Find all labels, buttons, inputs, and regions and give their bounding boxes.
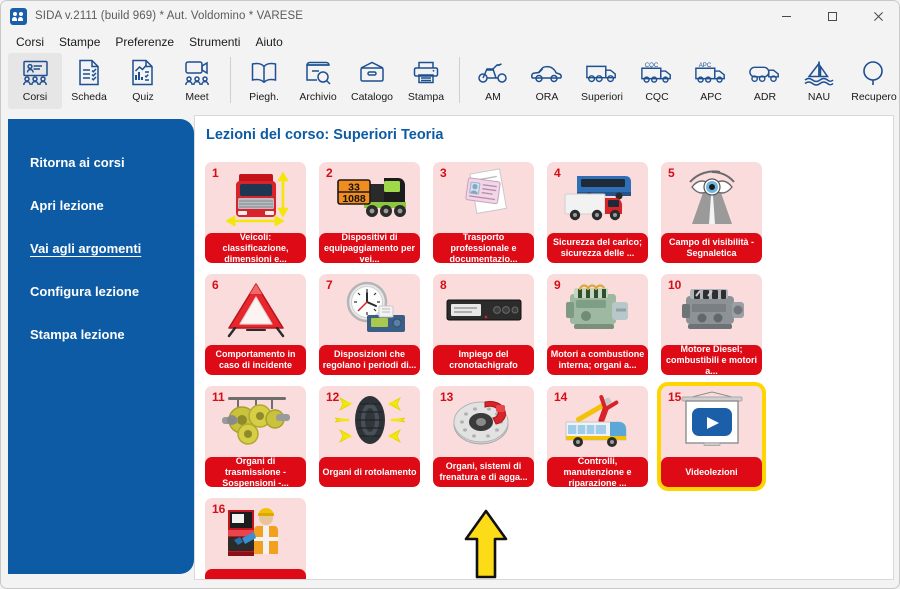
tile-caption: Motori a combustione interna; organi a..…: [547, 345, 648, 375]
toolbar-button-catalogo[interactable]: Catalogo: [345, 53, 399, 109]
menu-item-aiuto[interactable]: Aiuto: [248, 33, 289, 51]
sidebar-item-apri-lezione[interactable]: Apri lezione: [8, 184, 194, 227]
toolbar-button-scheda[interactable]: Scheda: [62, 53, 116, 109]
sidebar-item-label: Vai agli argomenti: [30, 241, 141, 256]
toolbar-label-cqc: CQC: [645, 91, 668, 103]
toolbar: Corsi Scheda: [1, 53, 900, 115]
scooter-icon: [476, 57, 510, 88]
lesson-tile-8[interactable]: 8 Impiego del cronotachigrafo: [433, 274, 534, 375]
toolbar-label-archivio: Archivio: [299, 91, 336, 103]
tile-number: 14: [554, 390, 567, 404]
toolbar-button-cqc[interactable]: CQC CQC: [630, 53, 684, 109]
toolbar-label-scheda: Scheda: [71, 91, 107, 103]
toolbar-label-superiori: Superiori: [581, 91, 623, 103]
menu-bar: Corsi Stampe Preferenze Strumenti Aiuto: [1, 31, 900, 53]
lesson-tile-3[interactable]: 3 Trasporto professionale e documentazio…: [433, 162, 534, 263]
toolbar-label-piegh: Piegh.: [249, 91, 279, 103]
toolbar-group-main: Corsi Scheda: [8, 53, 224, 111]
tile-caption-text: Disposizioni che regolano i periodi di..…: [322, 349, 417, 371]
tile-caption: Campo di visibilità - Segnaletica: [661, 233, 762, 263]
toolbar-button-nau[interactable]: NAU: [792, 53, 846, 109]
sailboat-icon: [802, 57, 836, 88]
tile-number: 16: [212, 502, 225, 516]
circle-points-icon: [857, 57, 891, 88]
sidebar-item-label: Apri lezione: [30, 198, 104, 213]
tile-body: 16 Parte pratica: [205, 498, 306, 580]
tile-number: 4: [554, 166, 561, 180]
toolbar-label-adr: ADR: [754, 91, 776, 103]
tile-caption-text: Sicurezza del carico; sicurezza delle ..…: [550, 237, 645, 259]
engine-green-icon: [547, 278, 648, 340]
truck-apc-icon: APC: [694, 57, 728, 88]
tile-number: 3: [440, 166, 447, 180]
lesson-tile-15[interactable]: 15 Videolezioni: [657, 382, 766, 491]
menu-item-preferenze[interactable]: Preferenze: [108, 33, 181, 51]
menu-item-strumenti[interactable]: Strumenti: [182, 33, 247, 51]
tile-number: 5: [668, 166, 675, 180]
lesson-tile-2[interactable]: 33 1088 2 Dispositivi di equipaggiamento…: [319, 162, 420, 263]
sidebar-item-vai-agli-argomenti[interactable]: Vai agli argomenti: [8, 227, 194, 270]
tile-body: 12 Organi di rotolamento: [319, 386, 420, 487]
page-title: Lezioni del corso: Superiori Teoria: [206, 127, 443, 143]
tile-caption-text: Videolezioni: [685, 467, 737, 478]
tile-caption-text: Organi di rotolamento: [322, 467, 416, 478]
tile-number: 10: [668, 278, 681, 292]
tile-body: 6 Comportamento in caso di incidente: [205, 274, 306, 375]
lesson-tile-1[interactable]: 1 Veicoli: classificazione, dimensioni e…: [205, 162, 306, 263]
toolbar-button-am[interactable]: AM: [466, 53, 520, 109]
eye-road-icon: [661, 166, 762, 228]
lesson-tile-6[interactable]: 6 Comportamento in caso di incidente: [205, 274, 306, 375]
toolbar-button-corsi[interactable]: Corsi: [8, 53, 62, 109]
tile-number: 1: [212, 166, 219, 180]
tile-body: 33 1088 2 Dispositivi di equipaggiamento…: [319, 162, 420, 263]
lesson-tile-12[interactable]: 12 Organi di rotolamento: [319, 386, 420, 487]
lesson-tile-11[interactable]: 11 Organi di trasmissione - Sospensioni …: [205, 386, 306, 487]
tile-caption-text: Trasporto professionale e documentazio..…: [436, 232, 531, 264]
toolbar-button-apc[interactable]: APC APC: [684, 53, 738, 109]
toolbar-label-meet: Meet: [185, 91, 208, 103]
bus-and-truck-icon: [547, 166, 648, 228]
tile-body: 11 Organi di trasmissione - Sospensioni …: [205, 386, 306, 487]
minimize-icon[interactable]: [763, 1, 809, 31]
printer-icon: [409, 57, 443, 88]
tile-number: 12: [326, 390, 339, 404]
tile-body: 8 Impiego del cronotachigrafo: [433, 274, 534, 375]
tile-caption: Disposizioni che regolano i periodi di..…: [319, 345, 420, 375]
svg-text:1088: 1088: [342, 193, 366, 205]
tile-caption: Controlli, manutenzione e riparazione ..…: [547, 457, 648, 487]
toolbar-label-ora: ORA: [536, 91, 559, 103]
adr-plate-truck-icon: 33 1088: [319, 166, 420, 228]
toolbar-button-archivio[interactable]: Archivio: [291, 53, 345, 109]
lesson-tile-7[interactable]: 7 Disposizioni che regolano i periodi di…: [319, 274, 420, 375]
tile-caption-text: Dispositivi di equipaggiamento per vei..…: [322, 232, 417, 264]
tile-body: 1 Veicoli: classificazione, dimensioni e…: [205, 162, 306, 263]
tile-caption: Dispositivi di equipaggiamento per vei..…: [319, 233, 420, 263]
warning-triangle-icon: [205, 278, 306, 340]
sidebar: Ritorna ai corsi Apri lezione Vai agli a…: [8, 119, 194, 574]
lesson-tile-5[interactable]: 5 Campo di visibilità - Segnaletica: [661, 162, 762, 263]
lesson-grid: 1 Veicoli: classificazione, dimensioni e…: [205, 162, 885, 580]
toolbar-button-stampa[interactable]: Stampa: [399, 53, 453, 109]
close-icon[interactable]: [855, 1, 900, 31]
tile-caption-text: Motore Diesel; combustibili e motori a..…: [664, 344, 759, 376]
toolbar-button-quiz[interactable]: Quiz: [116, 53, 170, 109]
tile-body: 4 Sicurezza del carico; sicurezza delle …: [547, 162, 648, 263]
sidebar-item-stampa-lezione[interactable]: Stampa lezione: [8, 313, 194, 356]
tile-caption-text: Comportamento in caso di incidente: [208, 349, 303, 371]
video-people-icon: [180, 57, 214, 88]
tile-caption: Comportamento in caso di incidente: [205, 345, 306, 375]
toolbar-label-apc: APC: [700, 91, 722, 103]
open-book-icon: [247, 57, 281, 88]
tile-caption: Videolezioni: [661, 457, 762, 487]
window-title: SIDA v.2111 (build 969) * Aut. Voldomino…: [35, 10, 303, 22]
presentation-people-icon: [18, 57, 52, 88]
tile-caption: Organi, sistemi di frenatura e di agga..…: [433, 457, 534, 487]
tile-body: 14 Controlli, manutenzione e riparazione…: [547, 386, 648, 487]
toolbar-label-am: AM: [485, 91, 501, 103]
tile-number: 13: [440, 390, 453, 404]
tile-body: 3 Trasporto professionale e documentazio…: [433, 162, 534, 263]
tile-caption-text: Impiego del cronotachigrafo: [436, 349, 531, 371]
sidebar-item-ritorna-ai-corsi[interactable]: Ritorna ai corsi: [8, 141, 194, 184]
lesson-tile-9[interactable]: 9 Motori a combustione interna; organi a…: [547, 274, 648, 375]
tile-caption: Trasporto professionale e documentazio..…: [433, 233, 534, 263]
yellow-up-arrow: [463, 509, 509, 581]
checklist-document-icon: [72, 57, 106, 88]
tile-caption-text: Veicoli: classificazione, dimensioni e..…: [208, 232, 303, 264]
tile-body: 9 Motori a combustione interna; organi a…: [547, 274, 648, 375]
toolbar-button-recupero[interactable]: Recupero: [846, 53, 900, 109]
menu-item-stampe[interactable]: Stampe: [52, 33, 107, 51]
lesson-tile-16[interactable]: 16 Parte pratica: [205, 498, 306, 580]
maximize-icon[interactable]: [809, 1, 855, 31]
tile-caption-text: Organi di trasmissione - Sospensioni -..…: [208, 456, 303, 488]
toolbar-label-nau: NAU: [808, 91, 830, 103]
truck-cqc-icon: CQC: [640, 57, 674, 88]
toolbar-separator-1: [230, 57, 231, 103]
sidebar-item-label: Ritorna ai corsi: [30, 155, 125, 170]
tile-body: 5 Campo di visibilità - Segnaletica: [661, 162, 762, 263]
menu-item-corsi[interactable]: Corsi: [9, 33, 51, 51]
toolbar-button-adr[interactable]: ADR: [738, 53, 792, 109]
tile-number: 15: [668, 390, 681, 404]
tile-caption: Veicoli: classificazione, dimensioni e..…: [205, 233, 306, 263]
lesson-tile-4[interactable]: 4 Sicurezza del carico; sicurezza delle …: [547, 162, 648, 263]
toolbar-label-quiz: Quiz: [132, 91, 154, 103]
toolbar-group-licences: AM ORA Su: [466, 53, 900, 111]
content-panel: Lezioni del corso: Superiori Teoria: [194, 115, 894, 580]
svg-text:33: 33: [348, 181, 360, 193]
tile-body: 15 Videolezioni: [661, 386, 762, 487]
window-controls: [763, 1, 900, 31]
tile-caption: Motore Diesel; combustibili e motori a..…: [661, 345, 762, 375]
file-box-icon: [355, 57, 389, 88]
people-app-icon: [10, 8, 27, 25]
title-bar: SIDA v.2111 (build 969) * Aut. Voldomino…: [1, 1, 900, 31]
sidebar-item-label: Configura lezione: [30, 284, 139, 299]
toolbar-button-piegh[interactable]: Piegh.: [237, 53, 291, 109]
archive-search-icon: [301, 57, 335, 88]
tile-caption: Sicurezza del carico; sicurezza delle ..…: [547, 233, 648, 263]
toolbar-button-meet[interactable]: Meet: [170, 53, 224, 109]
tile-number: 2: [326, 166, 333, 180]
tile-caption: Organi di trasmissione - Sospensioni -..…: [205, 457, 306, 487]
toolbar-separator-2: [459, 57, 460, 103]
clock-tachograph-icon: [319, 278, 420, 340]
sidebar-item-label: Stampa lezione: [30, 327, 125, 342]
tile-number: 11: [212, 390, 225, 404]
truck-icon: [585, 57, 619, 88]
tile-body: 10 Motore Diesel; combustibili e motori …: [661, 274, 762, 375]
application-window: SIDA v.2111 (build 969) * Aut. Voldomino…: [0, 0, 900, 589]
red-truck-front-icon: [205, 166, 306, 228]
tile-caption-text: Motori a combustione interna; organi a..…: [550, 349, 645, 371]
toolbar-label-corsi: Corsi: [23, 91, 48, 103]
toolbar-button-ora[interactable]: ORA: [520, 53, 574, 109]
toolbar-label-stampa: Stampa: [408, 91, 444, 103]
tile-body: 13 Organi, sistemi di frenatura e di agg…: [433, 386, 534, 487]
lesson-tile-13[interactable]: 13 Organi, sistemi di frenatura e di agg…: [433, 386, 534, 487]
tachograph-device-icon: [433, 278, 534, 340]
toolbar-label-recupero: Recupero: [851, 91, 897, 103]
tile-number: 6: [212, 278, 219, 292]
toolbar-label-catalogo: Catalogo: [351, 91, 393, 103]
lesson-tile-10[interactable]: 10 Motore Diesel; combustibili e motori …: [661, 274, 762, 375]
toolbar-button-superiori[interactable]: Superiori: [574, 53, 630, 109]
tile-caption-text: Organi, sistemi di frenatura e di agga..…: [436, 461, 531, 483]
tile-number: 9: [554, 278, 561, 292]
tile-caption: Impiego del cronotachigrafo: [433, 345, 534, 375]
tile-caption-text: Controlli, manutenzione e riparazione ..…: [550, 456, 645, 488]
chart-checklist-icon: [126, 57, 160, 88]
tile-body: 7 Disposizioni che regolano i periodi di…: [319, 274, 420, 375]
tile-caption-text: Campo di visibilità - Segnaletica: [664, 237, 759, 259]
tile-caption-text: Parte pratica: [228, 579, 283, 581]
tile-caption: Parte pratica: [205, 569, 306, 580]
tile-caption: Organi di rotolamento: [319, 457, 420, 487]
toolbar-group-docs: Piegh. Archivio: [237, 53, 453, 111]
tanker-truck-icon: [748, 57, 782, 88]
lesson-tile-14[interactable]: 14 Controlli, manutenzione e riparazione…: [547, 386, 648, 487]
car-icon: [530, 57, 564, 88]
tile-number: 7: [326, 278, 333, 292]
license-documents-icon: [433, 166, 534, 228]
tile-number: 8: [440, 278, 447, 292]
sidebar-item-configura-lezione[interactable]: Configura lezione: [8, 270, 194, 313]
